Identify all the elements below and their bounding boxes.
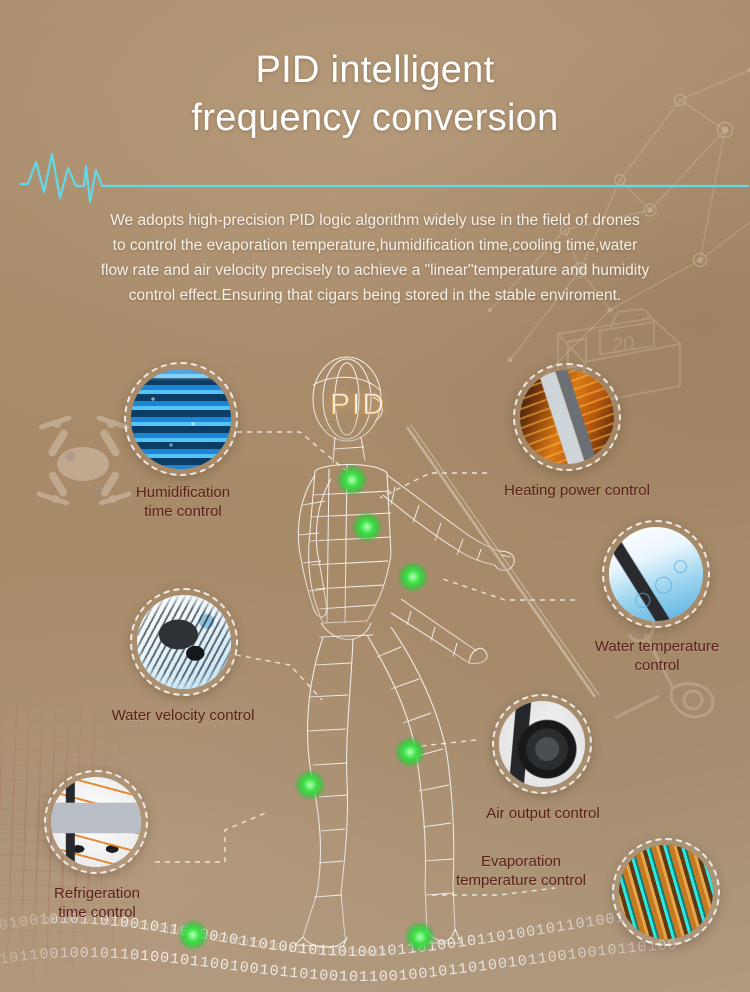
callout-water-temperature-control[interactable]: Water temperature control [572,520,742,675]
intro-line-4: control effect.Ensuring that cigars bein… [30,283,720,308]
copper-evaporator-coils-photo [619,845,713,939]
ptc-heating-element-photo [520,370,614,464]
callout-air-output-control[interactable]: Air output control [462,694,624,823]
node-knee-left [295,770,325,800]
callout-evaporation-bubble-wrap[interactable] [612,838,724,946]
refrigeration-caption: Refrigeration time control [32,884,162,922]
callout-water-velocity-control[interactable]: Water velocity control [98,588,268,725]
page-title: PID intelligent frequency conversion [0,46,750,142]
evaporation-caption: Evaporation temperature control [432,852,610,890]
node-shoulder-left [337,465,367,495]
header: PID intelligent frequency conversion We … [0,0,750,308]
ecg-pulse-icon [18,148,750,208]
compressor-photo [51,777,141,867]
callout-refrigeration-time-control[interactable]: Refrigeration time control [32,770,162,922]
refrigeration-bubble [44,770,148,874]
caption-line: time control [124,502,242,521]
caption-line: temperature control [432,871,610,890]
intro-line-1: We adopts high-precision PID logic algor… [30,208,720,233]
node-foot-left [178,920,208,950]
pulse-divider [0,148,750,208]
node-foot-right [405,922,435,952]
water-pump-photo [137,595,231,689]
water-temperature-caption: Water temperature control [572,637,742,675]
caption-line: Refrigeration [32,884,162,903]
node-hip [395,737,425,767]
title-line-1: PID intelligent [0,46,750,94]
caption-line: Heating power control [487,481,667,500]
water-temperature-sensor-photo [609,527,703,621]
humidification-caption: Humidification time control [124,483,242,521]
caption-line: Water velocity control [98,706,268,725]
infographic-poster: 20 [0,0,750,992]
node-chest [352,512,382,542]
caption-line: Humidification [124,483,242,502]
air-output-bubble [492,694,592,794]
caption-line: Evaporation [432,852,610,871]
water-temperature-bubble [602,520,710,628]
water-velocity-bubble [130,588,238,696]
caption-line: Air output control [462,804,624,823]
heating-caption: Heating power control [487,481,667,500]
callout-heating-power-control[interactable]: Heating power control [487,363,667,500]
air-output-caption: Air output control [462,804,624,823]
caption-line: control [572,656,742,675]
blue-evaporator-coil-photo [131,369,231,469]
heating-bubble [513,363,621,471]
evaporation-bubble [612,838,720,946]
intro-line-3: flow rate and air velocity precisely to … [30,258,720,283]
callout-humidification-time-control[interactable]: Humidification time control [124,362,242,521]
node-elbow-right [398,562,428,592]
pid-label: PID [330,388,386,422]
humidification-bubble [124,362,238,476]
title-line-2: frequency conversion [0,94,750,142]
intro-paragraph: We adopts high-precision PID logic algor… [30,208,720,308]
caption-line: time control [32,903,162,922]
intro-line-2: to control the evaporation temperature,h… [30,233,720,258]
centrifugal-blower-fan-photo [499,701,585,787]
caption-line: Water temperature [572,637,742,656]
water-velocity-caption: Water velocity control [98,706,268,725]
callout-evaporation-temperature-control[interactable]: Evaporation temperature control [432,852,610,890]
